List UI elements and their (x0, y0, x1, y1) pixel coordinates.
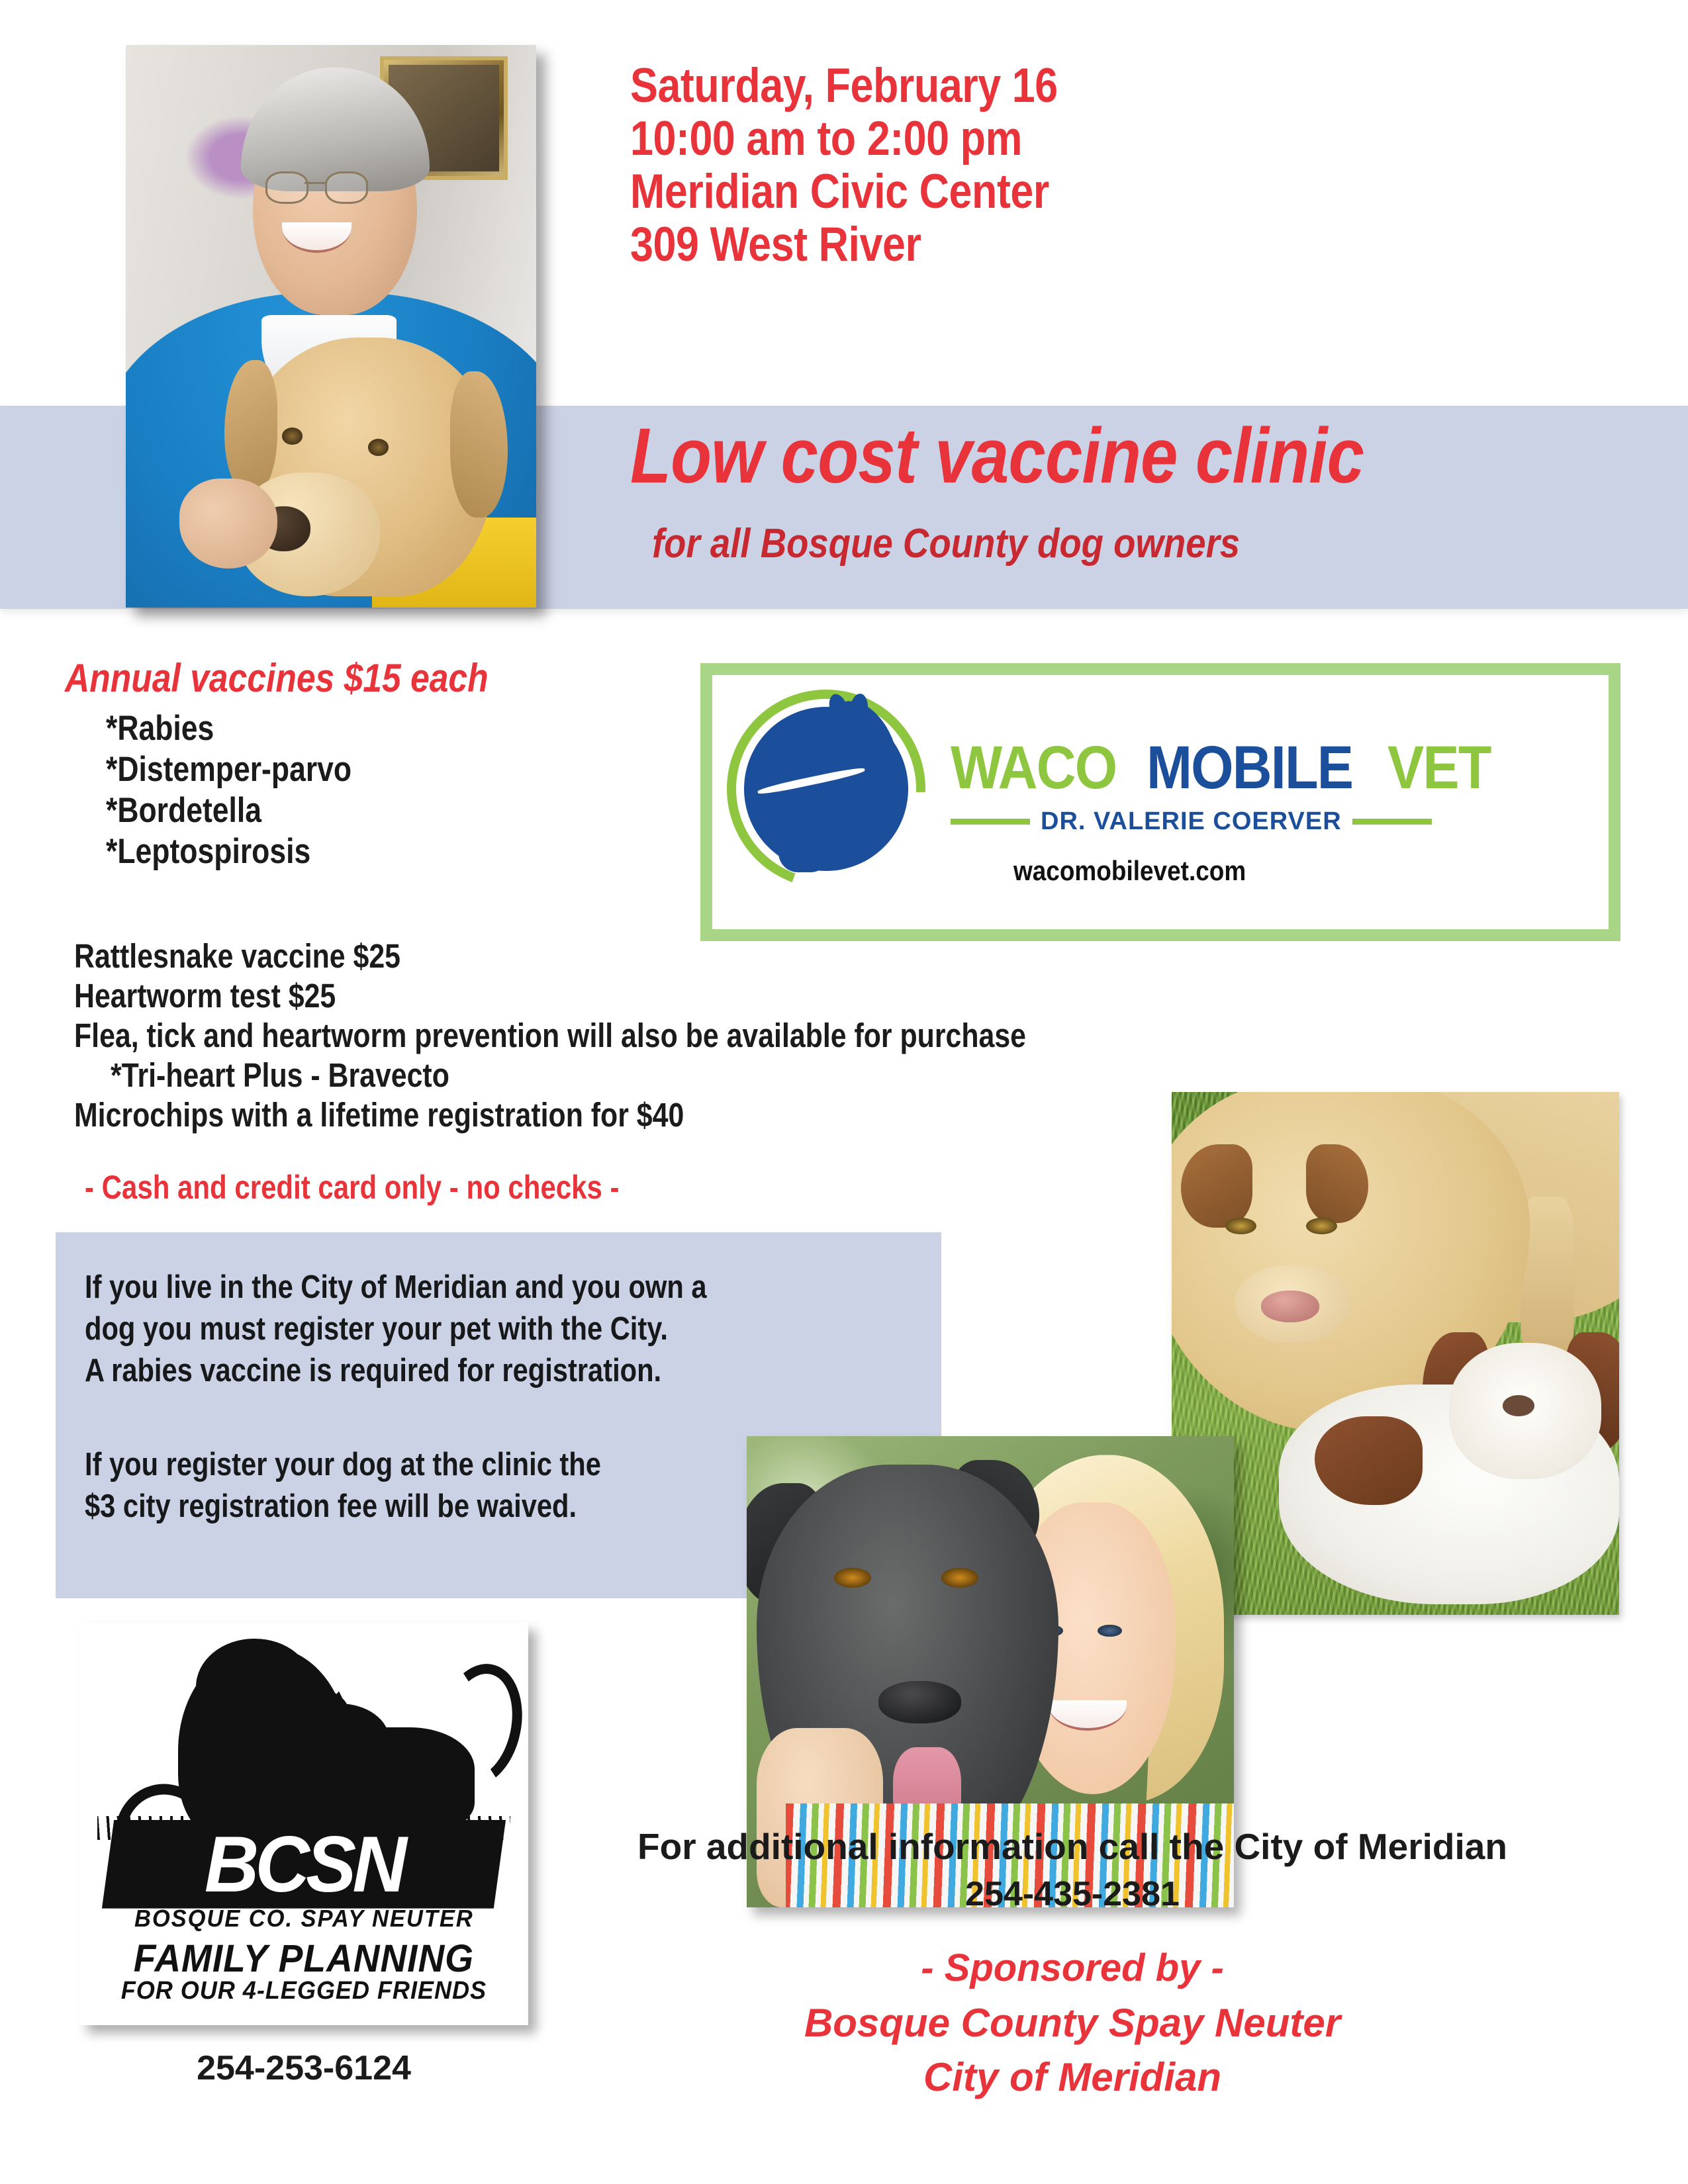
cat-head-shape (299, 1704, 389, 1768)
bcsn-logo-card: BCSN BOSQUE CO. SPAY NEUTER FAMILY PLANN… (79, 1623, 528, 2025)
text-line: A rabies vaccine is required for registr… (85, 1350, 707, 1392)
waco-word-mobile: MOBILE (1147, 733, 1352, 803)
text-line: dog you must register your pet with the … (85, 1308, 707, 1350)
vaccines-heading: Annual vaccines $15 each (65, 655, 489, 701)
vaccines-list: *Rabies *Distemper-parvo *Bordetella *Le… (106, 708, 399, 872)
divider-rule-left (951, 819, 1030, 825)
bcsn-acronym: BCSN (102, 1820, 506, 1909)
sponsor-name-bcsn: Bosque County Spay Neuter (569, 2000, 1575, 2046)
bcsn-tagline-primary: FAMILY PLANNING (108, 1936, 500, 1981)
list-item: *Distemper-parvo (106, 749, 352, 790)
event-time: 10:00 am to 2:00 pm (630, 113, 1484, 165)
list-item: *Bordetella (106, 790, 352, 831)
list-item: Rattlesnake vaccine $25 (74, 936, 1026, 976)
event-venue: Meridian Civic Center (630, 165, 1484, 218)
waco-word-waco: WACO (951, 733, 1116, 803)
photo-two-dogs-in-grass (1172, 1092, 1619, 1615)
list-item: Microchips with a lifetime registration … (74, 1095, 1026, 1135)
info-paragraph-fee-waiver: If you register your dog at the clinic t… (85, 1444, 692, 1527)
footer-phone-number[interactable]: 254-435-2381 (569, 1874, 1575, 1914)
text-line: If you register your dog at the clinic t… (85, 1444, 601, 1486)
event-address: 309 West River (630, 218, 1484, 271)
text-line: $3 city registration fee will be waived. (85, 1486, 601, 1527)
pricing-list: Rattlesnake vaccine $25 Heartworm test $… (74, 936, 1207, 1135)
waco-word-vet: VET (1387, 733, 1491, 803)
page-title: Low cost vaccine clinic (630, 417, 1484, 495)
event-details-block: Saturday, February 16 10:00 am to 2:00 p… (630, 60, 1623, 271)
waco-website-url[interactable]: wacomobilevet.com (1013, 855, 1246, 887)
bcsn-acronym-text: BCSN (205, 1819, 403, 1910)
footer-call-instruction: For additional information call the City… (569, 1823, 1575, 1870)
photo-man-with-labrador (126, 45, 536, 608)
bcsn-tagline-secondary: FOR OUR 4-LEGGED FRIENDS (108, 1977, 500, 2005)
bcsn-subtitle: BOSQUE CO. SPAY NEUTER (115, 1905, 494, 1933)
list-item: *Leptospirosis (106, 831, 352, 872)
sponsor-name-city: City of Meridian (569, 2054, 1575, 2100)
waco-wordmark: WACOMOBILEVET (951, 733, 1502, 803)
list-item: Heartworm test $25 (74, 976, 1026, 1016)
list-item: Flea, tick and heartworm prevention will… (74, 1016, 1026, 1056)
bcsn-phone-number[interactable]: 254-253-6124 (79, 2048, 528, 2088)
payment-note: - Cash and credit card only - no checks … (85, 1168, 620, 1206)
list-item: *Rabies (106, 708, 352, 749)
divider-rule-right (1352, 819, 1432, 825)
waco-doctor-line: DR. VALERIE COERVER (951, 807, 1579, 836)
page-subtitle: for all Bosque County dog owners (652, 523, 1526, 565)
waco-animals-circle-icon (727, 690, 925, 888)
doctor-name: DR. VALERIE COERVER (1041, 807, 1342, 836)
list-item: *Tri-heart Plus - Bravecto (111, 1056, 1032, 1095)
text-line: If you live in the City of Meridian and … (85, 1267, 707, 1308)
info-paragraph-registration: If you live in the City of Meridian and … (85, 1267, 816, 1392)
waco-mobile-vet-logo-card: WACOMOBILEVET DR. VALERIE COERVER wacomo… (700, 663, 1620, 941)
event-date: Saturday, February 16 (630, 60, 1484, 113)
sponsored-by-label: - Sponsored by - (569, 1946, 1575, 1990)
